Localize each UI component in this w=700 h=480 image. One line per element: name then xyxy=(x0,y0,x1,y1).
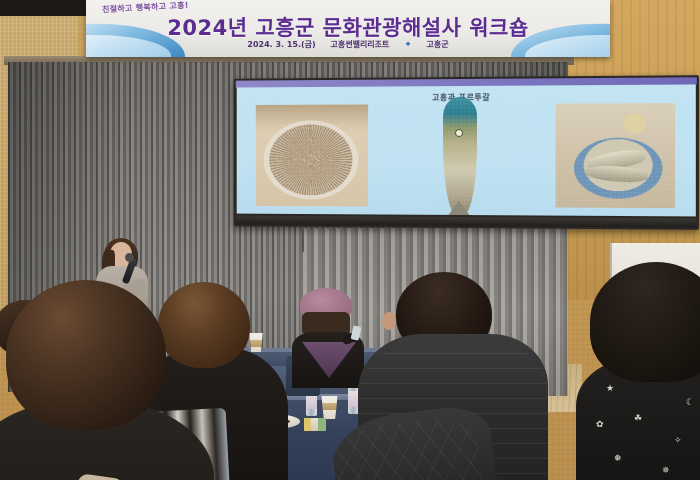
attendee-head xyxy=(6,280,166,430)
photo-fish-body xyxy=(443,96,477,214)
snowflake-icon: ❅ xyxy=(614,454,622,464)
workshop-photo-scene: 친절하고 행복하고 고흥! 2024년 고흥군 문화관광해설사 워크숍 2024… xyxy=(0,0,700,480)
presentation-slide: 고흥과 포르투갈 xyxy=(237,84,696,216)
star-icon: ★ xyxy=(606,384,614,394)
photo-radial-fish-arrangement xyxy=(269,124,352,195)
cup-band xyxy=(320,403,339,410)
napkin-yellow xyxy=(304,418,311,431)
screen-cable xyxy=(302,228,304,252)
projection-screen: 고흥과 포르투갈 xyxy=(234,75,699,230)
attendee-in-black-puffer-vest xyxy=(372,272,572,480)
screen-bezel-bottom xyxy=(236,216,697,228)
flower-icon: ✿ xyxy=(596,420,604,430)
microphone-head-icon xyxy=(125,253,134,262)
slide-photo-grilled-fish-blue-bowl xyxy=(556,103,675,208)
banner-title: 2024년 고흥군 문화관광해설사 워크숍 xyxy=(86,12,610,42)
napkin-green xyxy=(318,418,326,431)
starburst-icon: ✵ xyxy=(662,466,670,476)
napkin-packet xyxy=(304,418,326,431)
county-logo-icon: ✦ xyxy=(404,40,412,50)
photo-side-dish xyxy=(623,113,646,133)
banner-date: 2024. 3. 15.(금) xyxy=(247,40,315,49)
banner-host: 고흥군 xyxy=(427,40,449,49)
slide-photo-dried-fish-radial-plate xyxy=(256,104,368,206)
attendee-head xyxy=(590,262,700,382)
slide-photo-row xyxy=(256,107,675,204)
attendee-right-patterned-top: ★ ✦ ☾ ✿ ☘ ✧ ❅ ✵ xyxy=(590,262,700,480)
banner-subline: 2024. 3. 15.(금) 고흥썬밸리리조트 ✦ 고흥군 xyxy=(86,39,610,50)
slide-photo-whole-fish-standing xyxy=(435,96,487,214)
event-banner: 친절하고 행복하고 고흥! 2024년 고흥군 문화관광해설사 워크숍 2024… xyxy=(86,0,610,57)
attendee-ear xyxy=(382,312,396,330)
ceiling-dark-corner xyxy=(0,0,95,16)
mushroom-icon: ☘ xyxy=(634,414,642,424)
moon-icon: ☾ xyxy=(686,398,694,408)
banner-venue: 고흥썬밸리리조트 xyxy=(331,40,390,49)
attendee-front-left-large xyxy=(0,280,185,480)
attendee-with-pink-beret xyxy=(296,288,372,378)
sparkle2-icon: ✧ xyxy=(674,436,682,446)
photo-fish-eye xyxy=(455,128,463,136)
